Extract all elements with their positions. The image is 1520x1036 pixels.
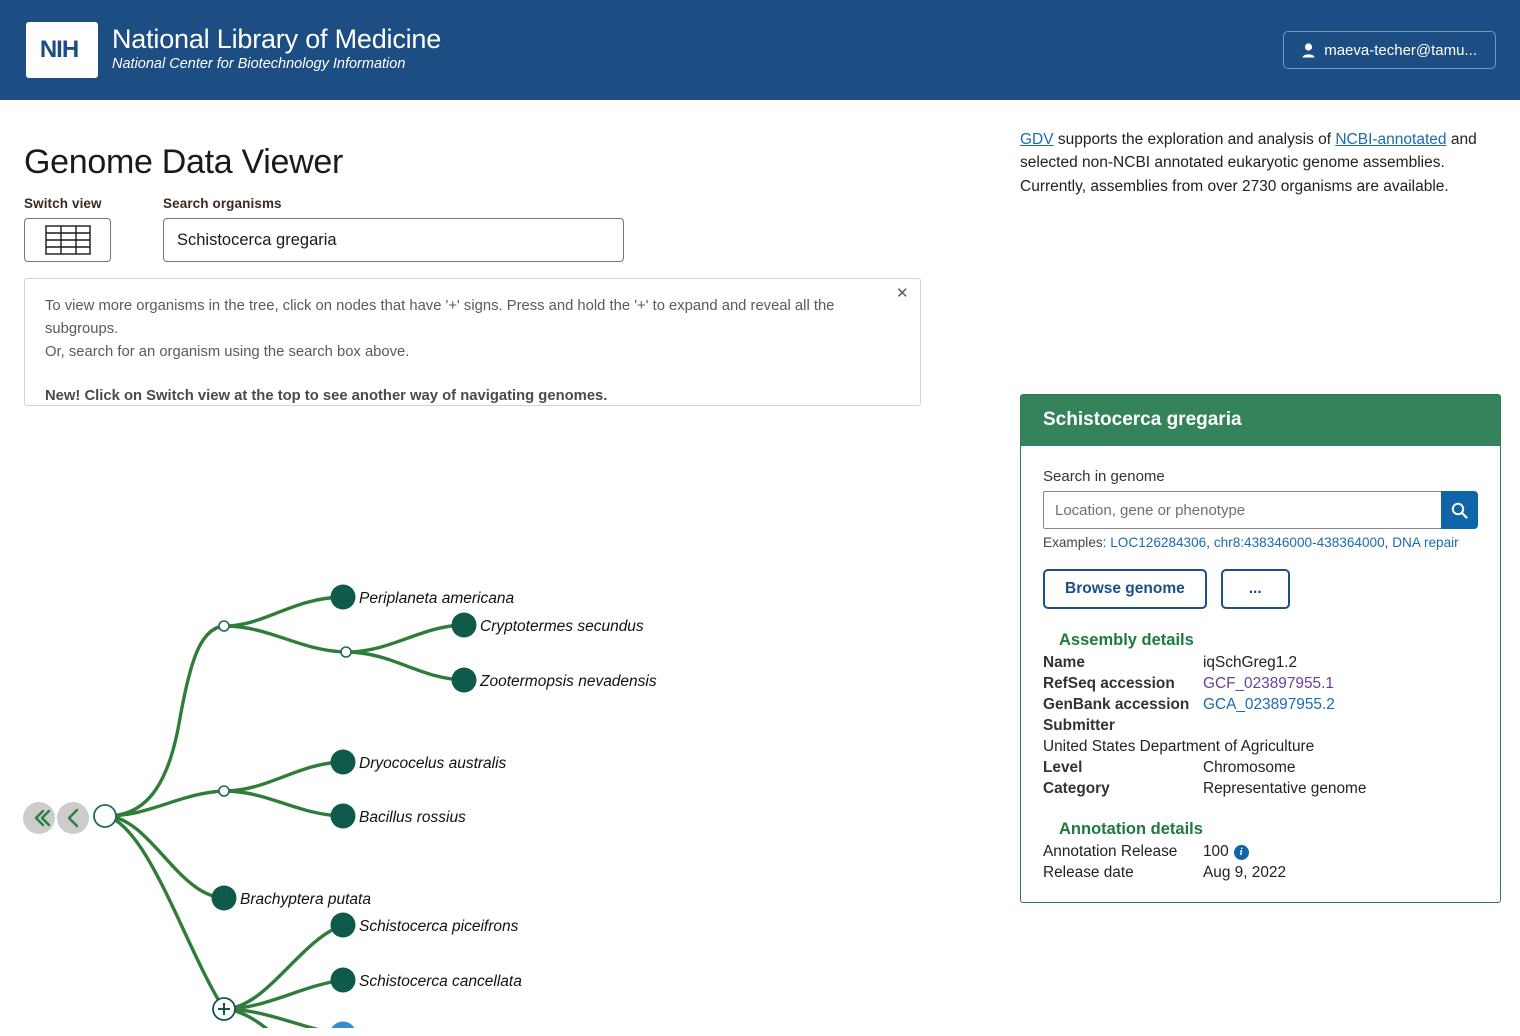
example-link-phenotype[interactable]: DNA repair xyxy=(1392,535,1458,550)
panel-action-buttons: Browse genome ... xyxy=(1043,569,1478,609)
page-title: Genome Data Viewer xyxy=(24,143,343,182)
tree-leaf-label[interactable]: Schistocerca cancellata xyxy=(359,973,522,990)
tree-leaf-node[interactable] xyxy=(212,886,237,911)
notice-line-2: Or, search for an organism using the sea… xyxy=(45,344,409,360)
assembly-value-submitter-spacer xyxy=(1203,717,1478,735)
tree-expand-node[interactable] xyxy=(213,998,235,1020)
genome-info-panel: Schistocerca gregaria Search in genome E… xyxy=(1020,394,1501,903)
tree-leaf-node[interactable] xyxy=(452,613,477,638)
annotation-details-heading: Annotation details xyxy=(1059,820,1478,839)
search-examples: Examples: LOC126284306, chr8:438346000-4… xyxy=(1043,535,1478,550)
examples-prefix: Examples: xyxy=(1043,535,1110,550)
tree-leaf-node[interactable] xyxy=(331,585,356,610)
assembly-value-name: iqSchGreg1.2 xyxy=(1203,654,1478,672)
search-icon xyxy=(1451,502,1468,519)
tree-leaf-label[interactable]: Cryptotermes secundus xyxy=(480,618,644,635)
controls-row: Switch view Search organisms xyxy=(24,196,624,262)
nih-chevron-icon xyxy=(73,22,99,78)
site-title: National Library of Medicine xyxy=(112,25,441,54)
internal-node[interactable] xyxy=(341,647,351,657)
tree-leaf-node[interactable] xyxy=(331,968,356,993)
switch-view-label: Switch view xyxy=(24,196,111,211)
search-organisms-input[interactable] xyxy=(163,218,624,262)
tree-leaf-node[interactable] xyxy=(452,668,477,693)
switch-view-group: Switch view xyxy=(24,196,111,262)
site-subtitle: National Center for Biotechnology Inform… xyxy=(112,54,441,76)
tree-leaf-node[interactable] xyxy=(331,804,356,829)
annotation-key-release: Annotation Release xyxy=(1043,843,1203,861)
notice-line-3: New! Click on Switch view at the top to … xyxy=(45,385,900,408)
assembly-value-refseq[interactable]: GCF_023897955.1 xyxy=(1203,675,1334,692)
internal-node[interactable] xyxy=(219,786,229,796)
more-options-button[interactable]: ... xyxy=(1221,569,1290,609)
table-grid-icon xyxy=(45,225,91,255)
site-header: NIH National Library of Medicine Nationa… xyxy=(0,0,1520,100)
tree-nav-first-button[interactable] xyxy=(23,802,55,834)
search-organisms-label: Search organisms xyxy=(163,196,624,211)
assembly-key-genbank: GenBank accession xyxy=(1043,696,1203,714)
annotation-value-release: 100 xyxy=(1203,843,1229,860)
assembly-value-level: Chromosome xyxy=(1203,759,1478,777)
tree-leaf-label[interactable]: Zootermopsis nevadensis xyxy=(479,673,657,690)
tree-internal-nodes xyxy=(219,621,351,796)
assembly-value-genbank[interactable]: GCA_023897955.2 xyxy=(1203,696,1335,713)
search-in-genome-input[interactable] xyxy=(1043,491,1441,529)
annotation-details-list: Annotation Release 100i Release date Aug… xyxy=(1043,843,1478,882)
assembly-value-category: Representative genome xyxy=(1203,780,1478,798)
user-icon xyxy=(1302,43,1315,58)
example-link-loc[interactable]: LOC126284306 xyxy=(1110,535,1206,550)
gdv-link[interactable]: GDV xyxy=(1020,131,1054,148)
search-submit-button[interactable] xyxy=(1441,491,1478,529)
assembly-key-name: Name xyxy=(1043,654,1203,672)
tree-leaf-label[interactable]: Dryococelus australis xyxy=(359,755,507,772)
tree-leaf-node-selected[interactable] xyxy=(330,1022,357,1029)
tree-leaf-label[interactable]: Brachyptera putata xyxy=(240,891,371,908)
internal-node[interactable] xyxy=(219,621,229,631)
phylogenetic-tree: Periplaneta americana Cryptotermes secun… xyxy=(0,448,960,1028)
example-link-range[interactable]: chr8:438346000-438364000 xyxy=(1214,535,1385,550)
nih-logo-mark: NIH xyxy=(26,22,98,78)
assembly-details-heading: Assembly details xyxy=(1059,631,1478,650)
gdv-text-1: supports the exploration and analysis of xyxy=(1054,131,1336,148)
annotation-value-release-date: Aug 9, 2022 xyxy=(1203,864,1478,882)
tree-leaf-node[interactable] xyxy=(331,750,356,775)
genome-panel-title: Schistocerca gregaria xyxy=(1021,395,1500,446)
user-account-button[interactable]: maeva-techer@tamu... xyxy=(1283,31,1496,69)
close-icon[interactable]: ✕ xyxy=(890,282,912,304)
tree-leaf-node[interactable] xyxy=(331,913,356,938)
gdv-description: GDV supports the exploration and analysi… xyxy=(1020,128,1498,199)
user-account-label: maeva-techer@tamu... xyxy=(1324,42,1477,59)
browse-genome-button[interactable]: Browse genome xyxy=(1043,569,1207,609)
tree-leaf-label[interactable]: Bacillus rossius xyxy=(359,809,466,826)
ncbi-annotated-link[interactable]: NCBI-annotated xyxy=(1335,131,1446,148)
tree-nav-back-button[interactable] xyxy=(57,802,89,834)
tree-help-notice: ✕ To view more organisms in the tree, cl… xyxy=(24,278,921,406)
search-in-genome-row xyxy=(1043,491,1478,529)
tree-root-node[interactable] xyxy=(94,805,116,827)
search-organisms-group: Search organisms xyxy=(163,196,624,262)
assembly-key-refseq: RefSeq accession xyxy=(1043,675,1203,693)
assembly-key-level: Level xyxy=(1043,759,1203,777)
tree-leaf-label[interactable]: Periplaneta americana xyxy=(359,590,514,607)
assembly-value-submitter: United States Department of Agriculture xyxy=(1043,738,1478,756)
nih-logo[interactable]: NIH National Library of Medicine Nationa… xyxy=(26,22,441,78)
assembly-key-submitter: Submitter xyxy=(1043,717,1203,735)
tree-leaf-label[interactable]: Schistocerca piceifrons xyxy=(359,918,519,935)
info-icon[interactable]: i xyxy=(1234,845,1249,860)
assembly-details-list: Name iqSchGreg1.2 RefSeq accession GCF_0… xyxy=(1043,654,1478,798)
annotation-key-release-date: Release date xyxy=(1043,864,1203,882)
notice-line-1: To view more organisms in the tree, clic… xyxy=(45,298,834,337)
assembly-key-category: Category xyxy=(1043,780,1203,798)
search-in-genome-label: Search in genome xyxy=(1043,468,1478,485)
switch-view-button[interactable] xyxy=(24,218,111,262)
